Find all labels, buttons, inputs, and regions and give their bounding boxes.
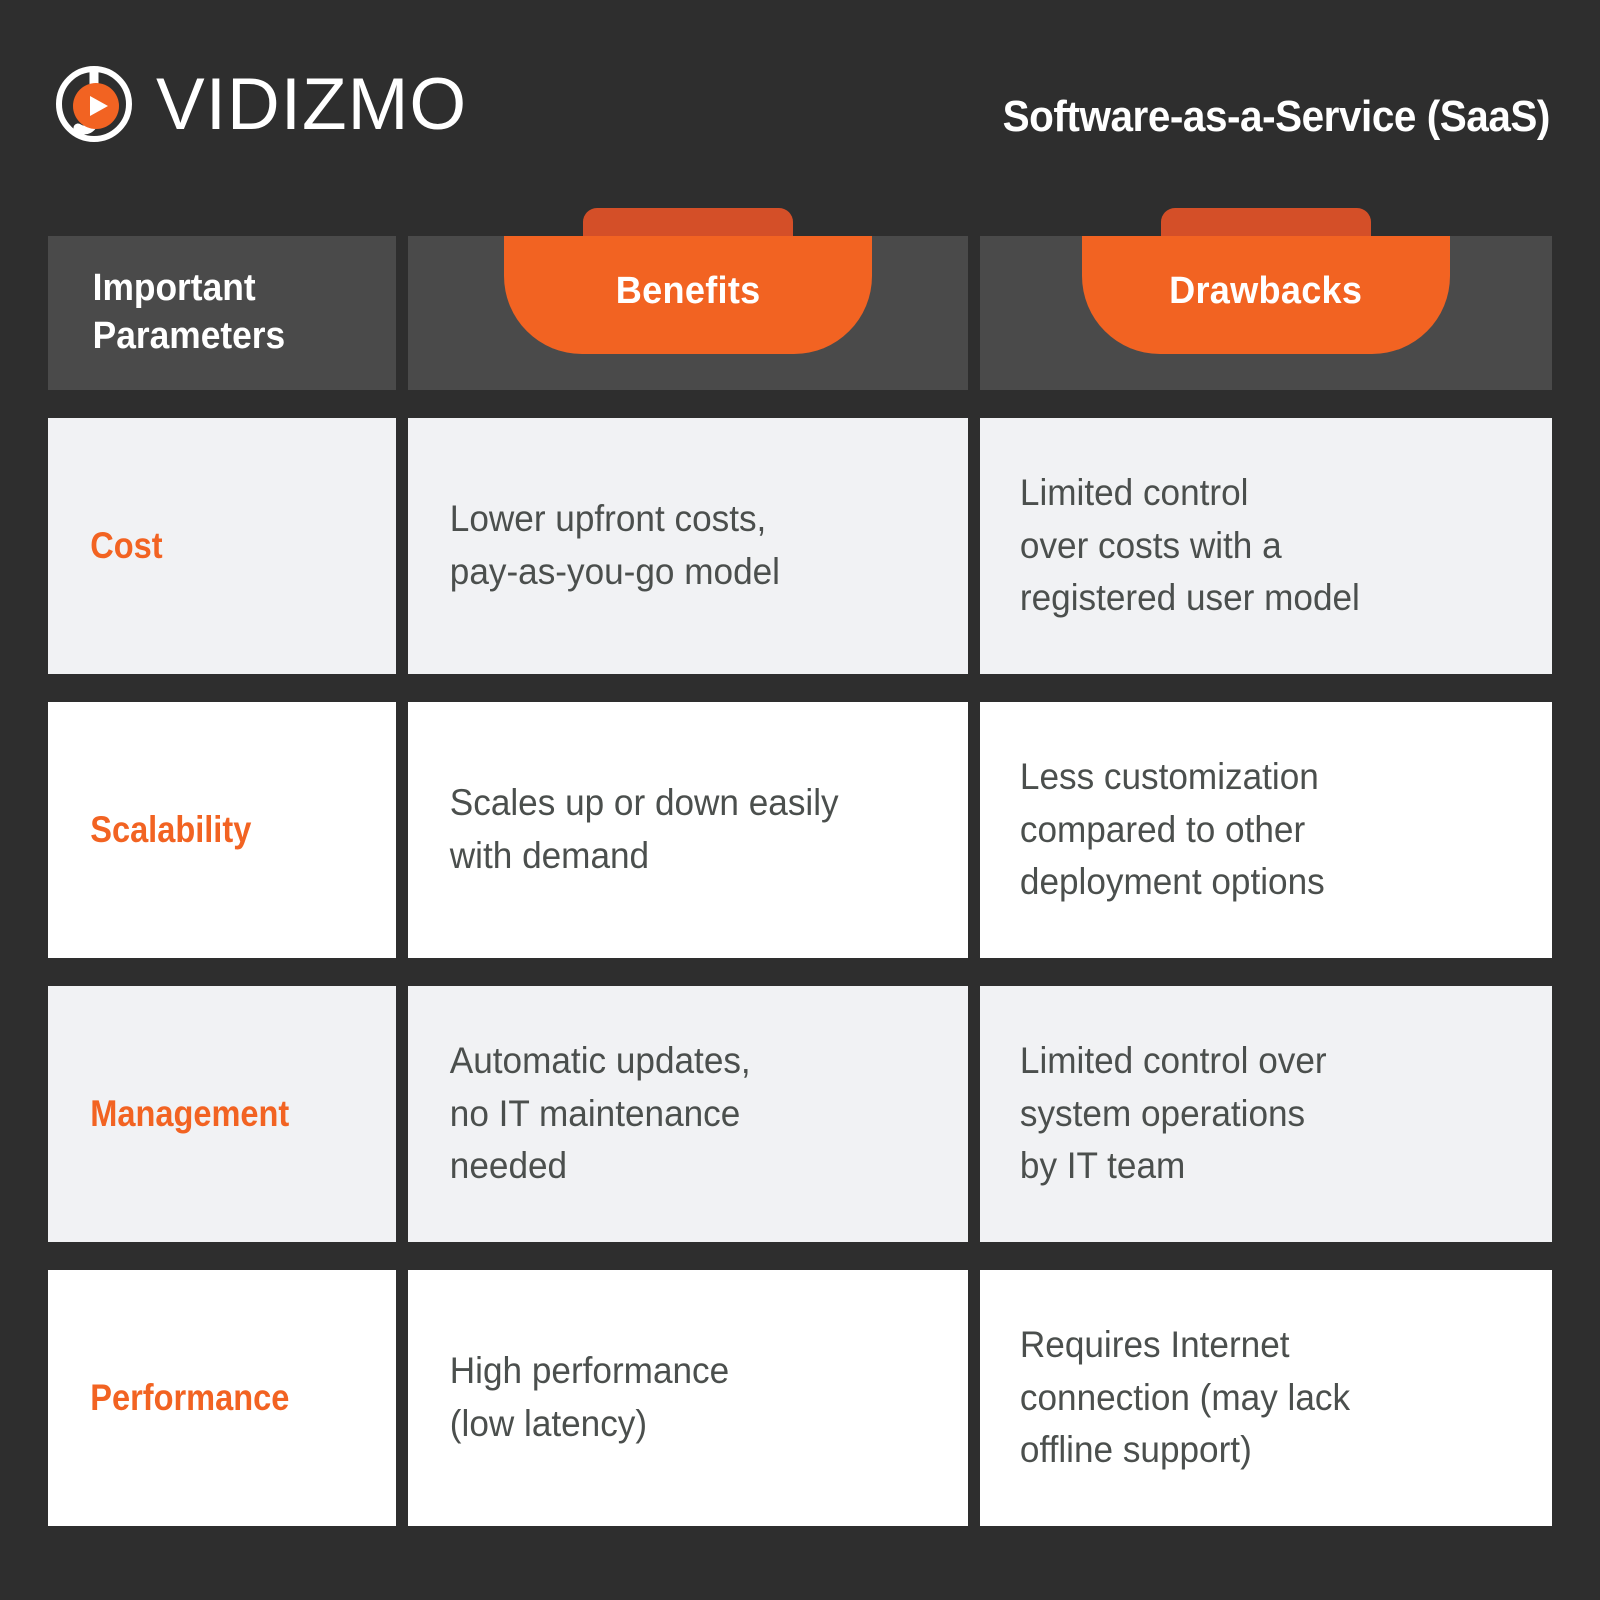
benefit-cell: Lower upfront costs, pay-as-you-go model <box>408 418 968 674</box>
table-header-row: Important Parameters Benefits Drawbacks <box>48 236 1552 390</box>
parameter-label: Scalability <box>48 810 251 851</box>
parameter-label: Performance <box>48 1378 289 1419</box>
benefit-text: Automatic updates, no IT maintenance nee… <box>408 1035 770 1193</box>
parameter-cell: Cost <box>48 418 396 674</box>
parameter-cell: Performance <box>48 1270 396 1526</box>
benefit-text: Lower upfront costs, pay-as-you-go model <box>408 493 799 598</box>
column-header-drawbacks: Drawbacks <box>1169 270 1362 313</box>
header-cell-parameters: Important Parameters <box>48 236 396 390</box>
parameter-label: Management <box>48 1094 289 1135</box>
comparison-table: Important Parameters Benefits Drawbacks <box>48 236 1552 1526</box>
drawbacks-tab-front: Drawbacks <box>1082 236 1450 354</box>
benefit-cell: High performance (low latency) <box>408 1270 968 1526</box>
drawback-cell: Limited control over costs with a regist… <box>980 418 1552 674</box>
benefit-text: High performance (low latency) <box>408 1345 748 1450</box>
parameter-cell: Scalability <box>48 702 396 958</box>
drawback-cell: Requires Internet connection (may lack o… <box>980 1270 1552 1526</box>
benefits-tab-front: Benefits <box>504 236 872 354</box>
header-cell-benefits: Benefits <box>408 236 968 390</box>
column-header-important-parameters: Important Parameters <box>48 265 372 361</box>
drawback-cell: Less customization compared to other dep… <box>980 702 1552 958</box>
benefit-text: Scales up or down easily with demand <box>408 777 858 882</box>
drawbacks-tab-shape: Drawbacks <box>980 208 1552 390</box>
page-title: Software-as-a-Service (SaaS) <box>1003 92 1550 142</box>
vidizmo-play-circle-logo-icon <box>48 58 140 150</box>
header-cell-drawbacks: Drawbacks <box>980 236 1552 390</box>
parameter-label: Cost <box>48 526 163 567</box>
parameter-cell: Management <box>48 986 396 1242</box>
drawback-text: Limited control over costs with a regist… <box>980 467 1379 625</box>
table-row: Performance High performance (low latenc… <box>48 1270 1552 1526</box>
brand-logo: VIDIZMO <box>48 58 467 150</box>
infographic-page: VIDIZMO Software-as-a-Service (SaaS) Imp… <box>0 0 1600 1600</box>
drawback-text: Limited control over system operations b… <box>980 1035 1346 1193</box>
table-row: Scalability Scales up or down easily wit… <box>48 702 1552 958</box>
brand-wordmark: VIDIZMO <box>156 68 467 141</box>
table-row: Cost Lower upfront costs, pay-as-you-go … <box>48 418 1552 674</box>
benefits-tab-shape: Benefits <box>408 208 968 390</box>
benefit-cell: Automatic updates, no IT maintenance nee… <box>408 986 968 1242</box>
drawback-text: Less customization compared to other dep… <box>980 751 1344 909</box>
column-header-benefits: Benefits <box>616 270 761 313</box>
drawback-cell: Limited control over system operations b… <box>980 986 1552 1242</box>
benefit-cell: Scales up or down easily with demand <box>408 702 968 958</box>
table-row: Management Automatic updates, no IT main… <box>48 986 1552 1242</box>
header-bar: VIDIZMO Software-as-a-Service (SaaS) <box>0 0 1600 236</box>
drawback-text: Requires Internet connection (may lack o… <box>980 1319 1369 1477</box>
